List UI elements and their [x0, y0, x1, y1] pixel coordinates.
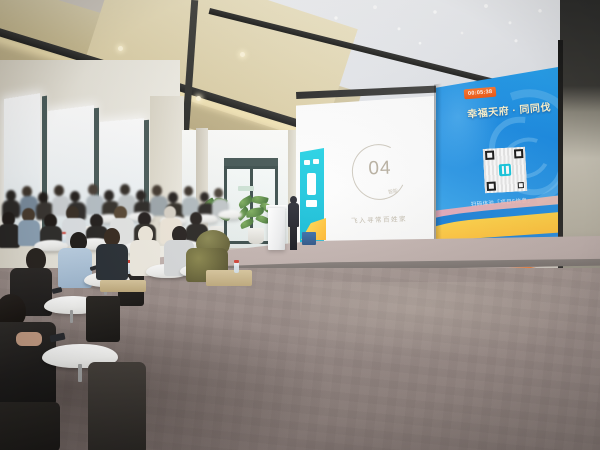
banner-chip-4 [306, 200, 317, 207]
qr-code[interactable] [483, 147, 527, 193]
qr-alignment-mark [518, 182, 524, 188]
ceiling-spotlight-3 [196, 96, 201, 101]
banner-chip-1 [304, 160, 310, 165]
banner-chip-3 [307, 173, 316, 195]
banner-chip-2 [313, 159, 319, 164]
attendee-legs-right [88, 362, 146, 450]
floor-light-pool [300, 282, 600, 362]
conference-hall-photo: 04 智能 飞入寻常百姓家 00:05:38 幸福天府 · 同同伐 扫码体验「项… [0, 0, 600, 450]
attendee-hand-foreground [16, 332, 42, 346]
qr-finder-top-right [514, 149, 523, 158]
ceiling-spotlight-4 [240, 52, 245, 57]
slide-section-number: 04 [358, 157, 403, 181]
chair-foreground [0, 402, 60, 450]
wood-counter-rail [206, 270, 252, 286]
qr-finder-bottom-left [487, 182, 496, 191]
audience-area [0, 176, 300, 450]
qr-finder-top-left [485, 151, 494, 160]
stage-blue-case [302, 232, 316, 245]
app-logo-icon [499, 164, 512, 177]
phone-foreground [49, 333, 65, 343]
ceiling-spotlight-2 [118, 46, 123, 51]
countdown-timer-text: 00:05:38 [468, 88, 493, 98]
